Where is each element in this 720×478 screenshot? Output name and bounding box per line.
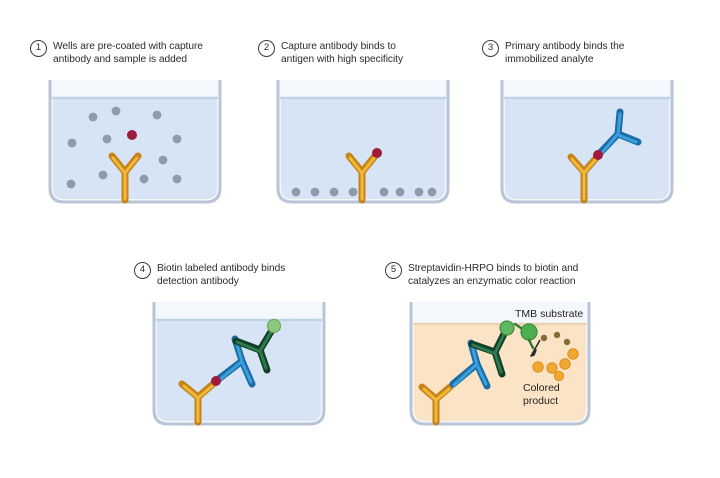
step-panel-2: 2 Capture antibody binds to antigen with… — [258, 40, 488, 206]
step-3-caption: Primary antibody binds the immobilized a… — [505, 40, 624, 66]
biotin-tag-4 — [268, 320, 281, 333]
step-number-badge-3: 3 — [482, 40, 499, 57]
step-2-caption-line-2: antigen with high specificity — [281, 53, 403, 66]
step-panel-5: 5 Streptavidin-HRPO binds to biotin and … — [385, 262, 635, 428]
step-4-caption-line-1: Biotin labeled antibody binds — [157, 262, 285, 275]
step-5-caption-line-2: catalyzes an enzymatic color reaction — [408, 275, 578, 288]
step-4-caption: Biotin labeled antibody binds detection … — [157, 262, 285, 288]
well-fluid-4 — [157, 320, 321, 421]
antigen-dot-1 — [127, 130, 137, 140]
well-3 — [498, 76, 708, 206]
colored-product-label: Colored product — [523, 382, 560, 407]
step-5-header: 5 Streptavidin-HRPO binds to biotin and … — [385, 262, 635, 288]
well-5: TMB substrate Colored product — [407, 298, 635, 428]
antigen-dot-4 — [211, 376, 221, 386]
well-2-illustration — [274, 76, 452, 206]
well-1-illustration — [46, 76, 224, 206]
step-panel-1: 1 Wells are pre-coated with capture anti… — [30, 40, 270, 206]
streptavidin-hrpo-5 — [521, 324, 537, 340]
biotin-tag-5 — [500, 321, 514, 335]
well-1 — [46, 76, 270, 206]
antigen-dot-3 — [593, 150, 603, 160]
step-1-caption: Wells are pre-coated with capture antibo… — [53, 40, 203, 66]
step-5-caption: Streptavidin-HRPO binds to biotin and ca… — [408, 262, 578, 288]
step-1-caption-line-1: Wells are pre-coated with capture — [53, 40, 203, 53]
step-2-caption-line-1: Capture antibody binds to — [281, 40, 403, 53]
step-2-header: 2 Capture antibody binds to antigen with… — [258, 40, 488, 66]
step-1-caption-line-2: antibody and sample is added — [53, 53, 203, 66]
step-4-header: 4 Biotin labeled antibody binds detectio… — [134, 262, 359, 288]
step-number-badge-4: 4 — [134, 262, 151, 279]
well-fluid-1 — [53, 98, 217, 199]
step-number-badge-1: 1 — [30, 40, 47, 57]
step-4-caption-line-2: detection antibody — [157, 275, 285, 288]
antigen-dot-2 — [372, 148, 382, 158]
well-4-illustration — [150, 298, 328, 428]
well-4 — [150, 298, 359, 428]
well-3-illustration — [498, 76, 676, 206]
step-1-header: 1 Wells are pre-coated with capture anti… — [30, 40, 270, 66]
step-2-caption: Capture antibody binds to antigen with h… — [281, 40, 403, 66]
step-number-badge-5: 5 — [385, 262, 402, 279]
step-3-header: 3 Primary antibody binds the immobilized… — [482, 40, 708, 66]
step-panel-4: 4 Biotin labeled antibody binds detectio… — [134, 262, 359, 428]
step-panel-3: 3 Primary antibody binds the immobilized… — [482, 40, 708, 206]
tmb-substrate-label: TMB substrate — [515, 308, 583, 321]
well-2 — [274, 76, 488, 206]
step-3-caption-line-2: immobilized analyte — [505, 53, 624, 66]
step-3-caption-line-1: Primary antibody binds the — [505, 40, 624, 53]
step-number-badge-2: 2 — [258, 40, 275, 57]
step-5-caption-line-1: Streptavidin-HRPO binds to biotin and — [408, 262, 578, 275]
elisa-workflow-diagram: 1 Wells are pre-coated with capture anti… — [0, 0, 720, 478]
